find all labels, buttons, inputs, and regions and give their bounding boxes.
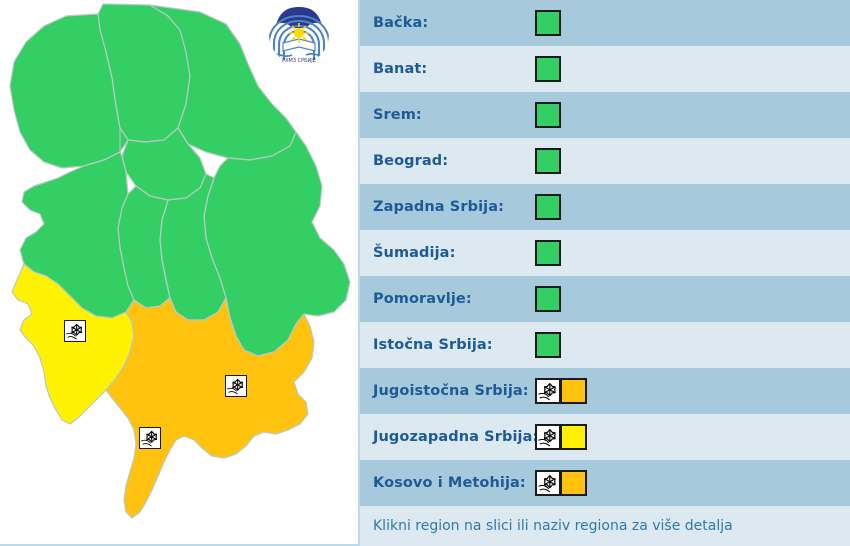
rhmz-serbia-logo: РХМЗ СРБИЈЕ xyxy=(266,3,332,69)
serbia-warning-map[interactable]: РХМЗ СРБИЈЕ xyxy=(0,0,360,546)
warning-swatch xyxy=(535,56,561,82)
region-label[interactable]: Jugozapadna Srbija: xyxy=(373,429,535,445)
snow-wind-icon xyxy=(139,427,161,449)
legend-row[interactable]: Pomoravlje: xyxy=(360,276,850,322)
snow-wind-icon xyxy=(535,378,561,404)
legend-row[interactable]: Banat: xyxy=(360,46,850,92)
warning-level-color-green xyxy=(535,286,561,312)
warning-level-color-green xyxy=(535,10,561,36)
warning-swatch xyxy=(535,10,561,36)
warning-level-color-orange xyxy=(561,378,587,404)
region-label[interactable]: Bačka: xyxy=(373,15,535,31)
snow-wind-icon xyxy=(535,424,561,450)
region-label[interactable]: Beograd: xyxy=(373,153,535,169)
map-help-note: Klikni region na slici ili naziv regiona… xyxy=(360,506,850,546)
snow-wind-icon xyxy=(140,428,160,448)
legend-row[interactable]: Jugozapadna Srbija: xyxy=(360,414,850,460)
logo-caption: РХМЗ СРБИЈЕ xyxy=(282,58,316,64)
legend-row[interactable]: Zapadna Srbija: xyxy=(360,184,850,230)
snow-wind-icon xyxy=(537,426,559,448)
snow-wind-icon xyxy=(226,376,246,396)
warning-level-color-green xyxy=(535,240,561,266)
snow-wind-icon xyxy=(65,321,85,341)
warning-swatch xyxy=(535,470,587,496)
legend-row[interactable]: Šumadija: xyxy=(360,230,850,276)
warning-swatch xyxy=(535,378,587,404)
snow-wind-icon xyxy=(225,375,247,397)
logo-sun xyxy=(294,28,304,38)
warning-level-color-green xyxy=(535,194,561,220)
warning-level-color-green xyxy=(535,332,561,358)
snow-wind-icon xyxy=(535,470,561,496)
region-label[interactable]: Srem: xyxy=(373,107,535,123)
warning-swatch xyxy=(535,102,561,128)
snow-wind-icon xyxy=(537,380,559,402)
region-label[interactable]: Istočna Srbija: xyxy=(373,337,535,353)
warning-level-color-green xyxy=(535,56,561,82)
weather-warning-widget: РХМЗ СРБИЈЕ xyxy=(0,0,850,546)
warning-level-color-green xyxy=(535,148,561,174)
snow-wind-icon xyxy=(537,472,559,494)
legend-row[interactable]: Beograd: xyxy=(360,138,850,184)
region-warning-list[interactable]: Bačka:Banat:Srem:Beograd:Zapadna Srbija:… xyxy=(360,0,850,546)
warning-swatch xyxy=(535,240,561,266)
warning-level-color-orange xyxy=(561,470,587,496)
legend-row[interactable]: Istočna Srbija: xyxy=(360,322,850,368)
warning-swatch xyxy=(535,332,561,358)
warning-swatch xyxy=(535,148,561,174)
legend-row[interactable]: Srem: xyxy=(360,92,850,138)
region-label[interactable]: Zapadna Srbija: xyxy=(373,199,535,215)
region-label[interactable]: Jugoistočna Srbija: xyxy=(373,383,535,399)
warning-swatch xyxy=(535,286,561,312)
map-graphic[interactable] xyxy=(0,0,358,540)
warning-swatch xyxy=(535,194,561,220)
legend-row[interactable]: Jugoistočna Srbija: xyxy=(360,368,850,414)
legend-row[interactable]: Bačka: xyxy=(360,0,850,46)
map-help-note-text: Klikni region na slici ili naziv regiona… xyxy=(373,518,733,534)
region-label[interactable]: Pomoravlje: xyxy=(373,291,535,307)
snow-wind-icon xyxy=(64,320,86,342)
region-label[interactable]: Šumadija: xyxy=(373,245,535,261)
region-label[interactable]: Kosovo i Metohija: xyxy=(373,475,535,491)
legend-row[interactable]: Kosovo i Metohija: xyxy=(360,460,850,506)
warning-level-color-yellow xyxy=(561,424,587,450)
region-label[interactable]: Banat: xyxy=(373,61,535,77)
warning-swatch xyxy=(535,424,587,450)
warning-level-color-green xyxy=(535,102,561,128)
